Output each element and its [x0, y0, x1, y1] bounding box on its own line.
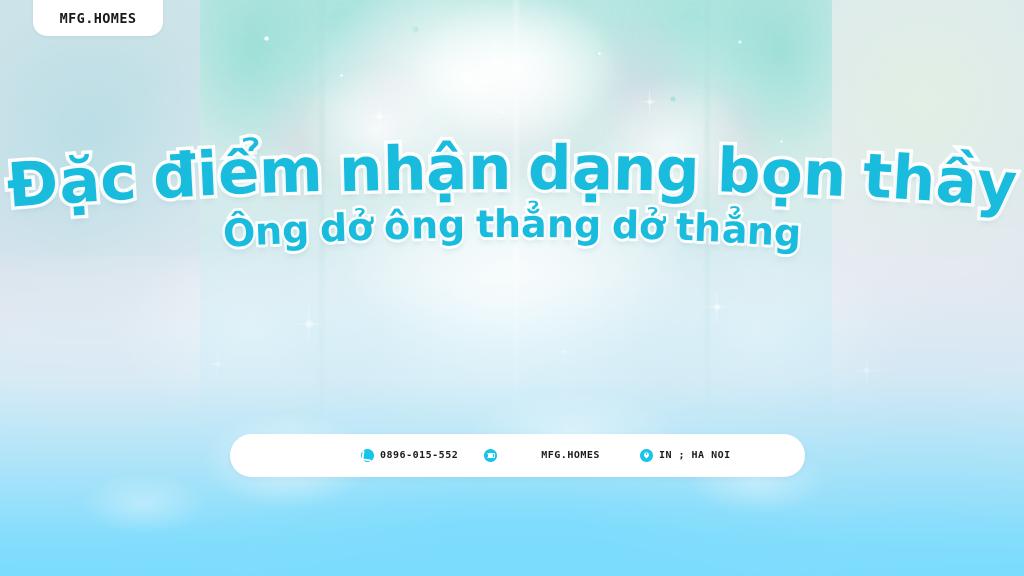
photo-texture-pink [200, 0, 832, 432]
headline-letter: y [975, 153, 1019, 217]
contact-location[interactable]: IN ; HA NOI [640, 449, 731, 462]
location-pin-icon [640, 449, 653, 462]
background-photo-panel [200, 0, 832, 432]
contact-site-value: MFG.HOMES [541, 450, 600, 461]
logo-text: MFG.HOMES [60, 11, 137, 27]
contact-location-value: IN ; HA NOI [659, 450, 731, 461]
headline-letter: ầ [934, 150, 979, 214]
contact-phone[interactable]: 0896-015-552 [361, 449, 458, 462]
headline-letter: h [890, 147, 937, 210]
logo-badge[interactable]: MFG.HOMES [33, 0, 163, 36]
contact-site[interactable]: MFG.HOMES [541, 450, 600, 461]
sparkle-icon [862, 366, 871, 375]
slide-canvas: MFG.HOMES Đặcđiểmnhậndạngbọnthầy Ôngdởôn… [0, 0, 1024, 576]
contact-bar: 0896-015-552 MFG.HOMES IN ; HA NOI [230, 434, 805, 477]
photo-texture-mint [200, 0, 832, 432]
headline-letter: Đ [5, 152, 60, 217]
headline-letter: đ [151, 145, 198, 208]
contact-phone-value: 0896-015-552 [380, 450, 458, 461]
photo-texture-highlight [200, 0, 832, 432]
mail-icon [484, 449, 497, 462]
photo-speckles [200, 0, 832, 432]
headline-letter: t [861, 145, 893, 207]
contact-items: 0896-015-552 MFG.HOMES IN ; HA NOI [361, 449, 731, 462]
headline-word: thầy [863, 138, 1017, 199]
contact-mail[interactable] [484, 449, 503, 462]
phone-icon [361, 449, 374, 462]
headline-word: Đặc [7, 138, 135, 199]
headline-letter: ặ [57, 150, 102, 214]
photo-mirror-seam [200, 0, 832, 432]
headline-letter: c [98, 147, 138, 210]
